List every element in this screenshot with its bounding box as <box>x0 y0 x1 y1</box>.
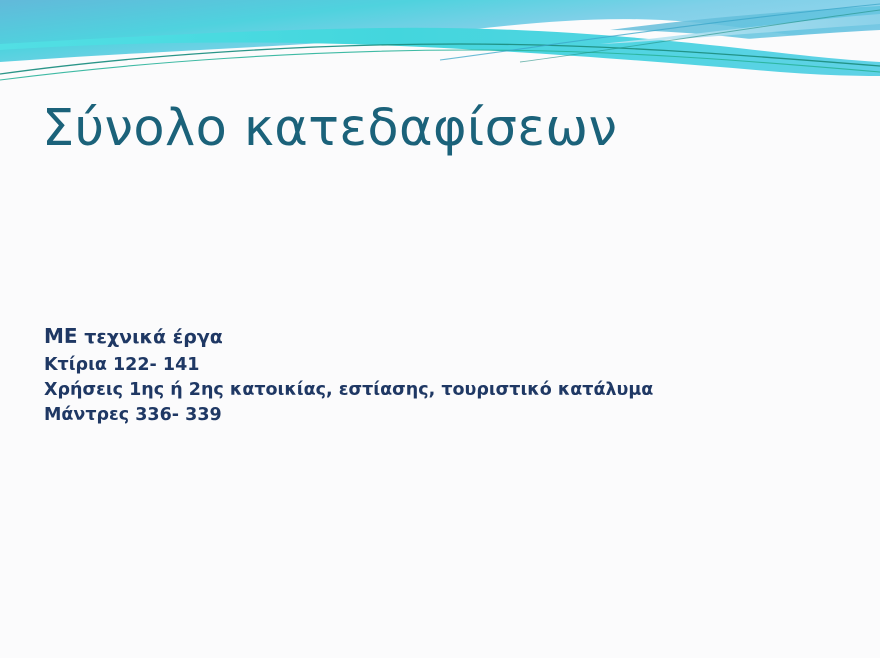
wave-line-teal-diagonal <box>520 10 880 62</box>
wave-line-green-inner <box>0 50 880 80</box>
presentation-slide: Σύνολο κατεδαφίσεων ΜΕ τεχνικά έργα Κτίρ… <box>0 0 880 658</box>
body-heading-rest: τεχνικά έργα <box>78 326 223 348</box>
page-title: Σύνολο κατεδαφίσεων <box>42 100 822 159</box>
body-heading: ΜΕ τεχνικά έργα <box>44 322 804 351</box>
wave-shape-white-sweep <box>0 30 880 110</box>
wave-shape-cyan-band <box>0 28 880 76</box>
body-line-yards: Μάντρες 336- 339 <box>44 403 804 428</box>
slide-body-text: ΜΕ τεχνικά έργα Κτίρια 122- 141 Χρήσεις … <box>44 322 804 428</box>
wave-shape-steel-right <box>610 6 880 58</box>
wave-line-blue-diagonal <box>440 4 880 60</box>
body-line-uses: Χρήσεις 1ης ή 2ης κατοικίας, εστίασης, τ… <box>44 378 804 403</box>
body-line-buildings: Κτίρια 122- 141 <box>44 353 804 378</box>
flow-wave-banner-decoration <box>0 0 880 110</box>
wave-shape-pale-ribbon <box>600 14 880 44</box>
wave-line-teal-outer <box>0 44 880 74</box>
wave-shape-upper <box>0 0 880 62</box>
body-heading-lead: ΜΕ <box>44 324 78 348</box>
